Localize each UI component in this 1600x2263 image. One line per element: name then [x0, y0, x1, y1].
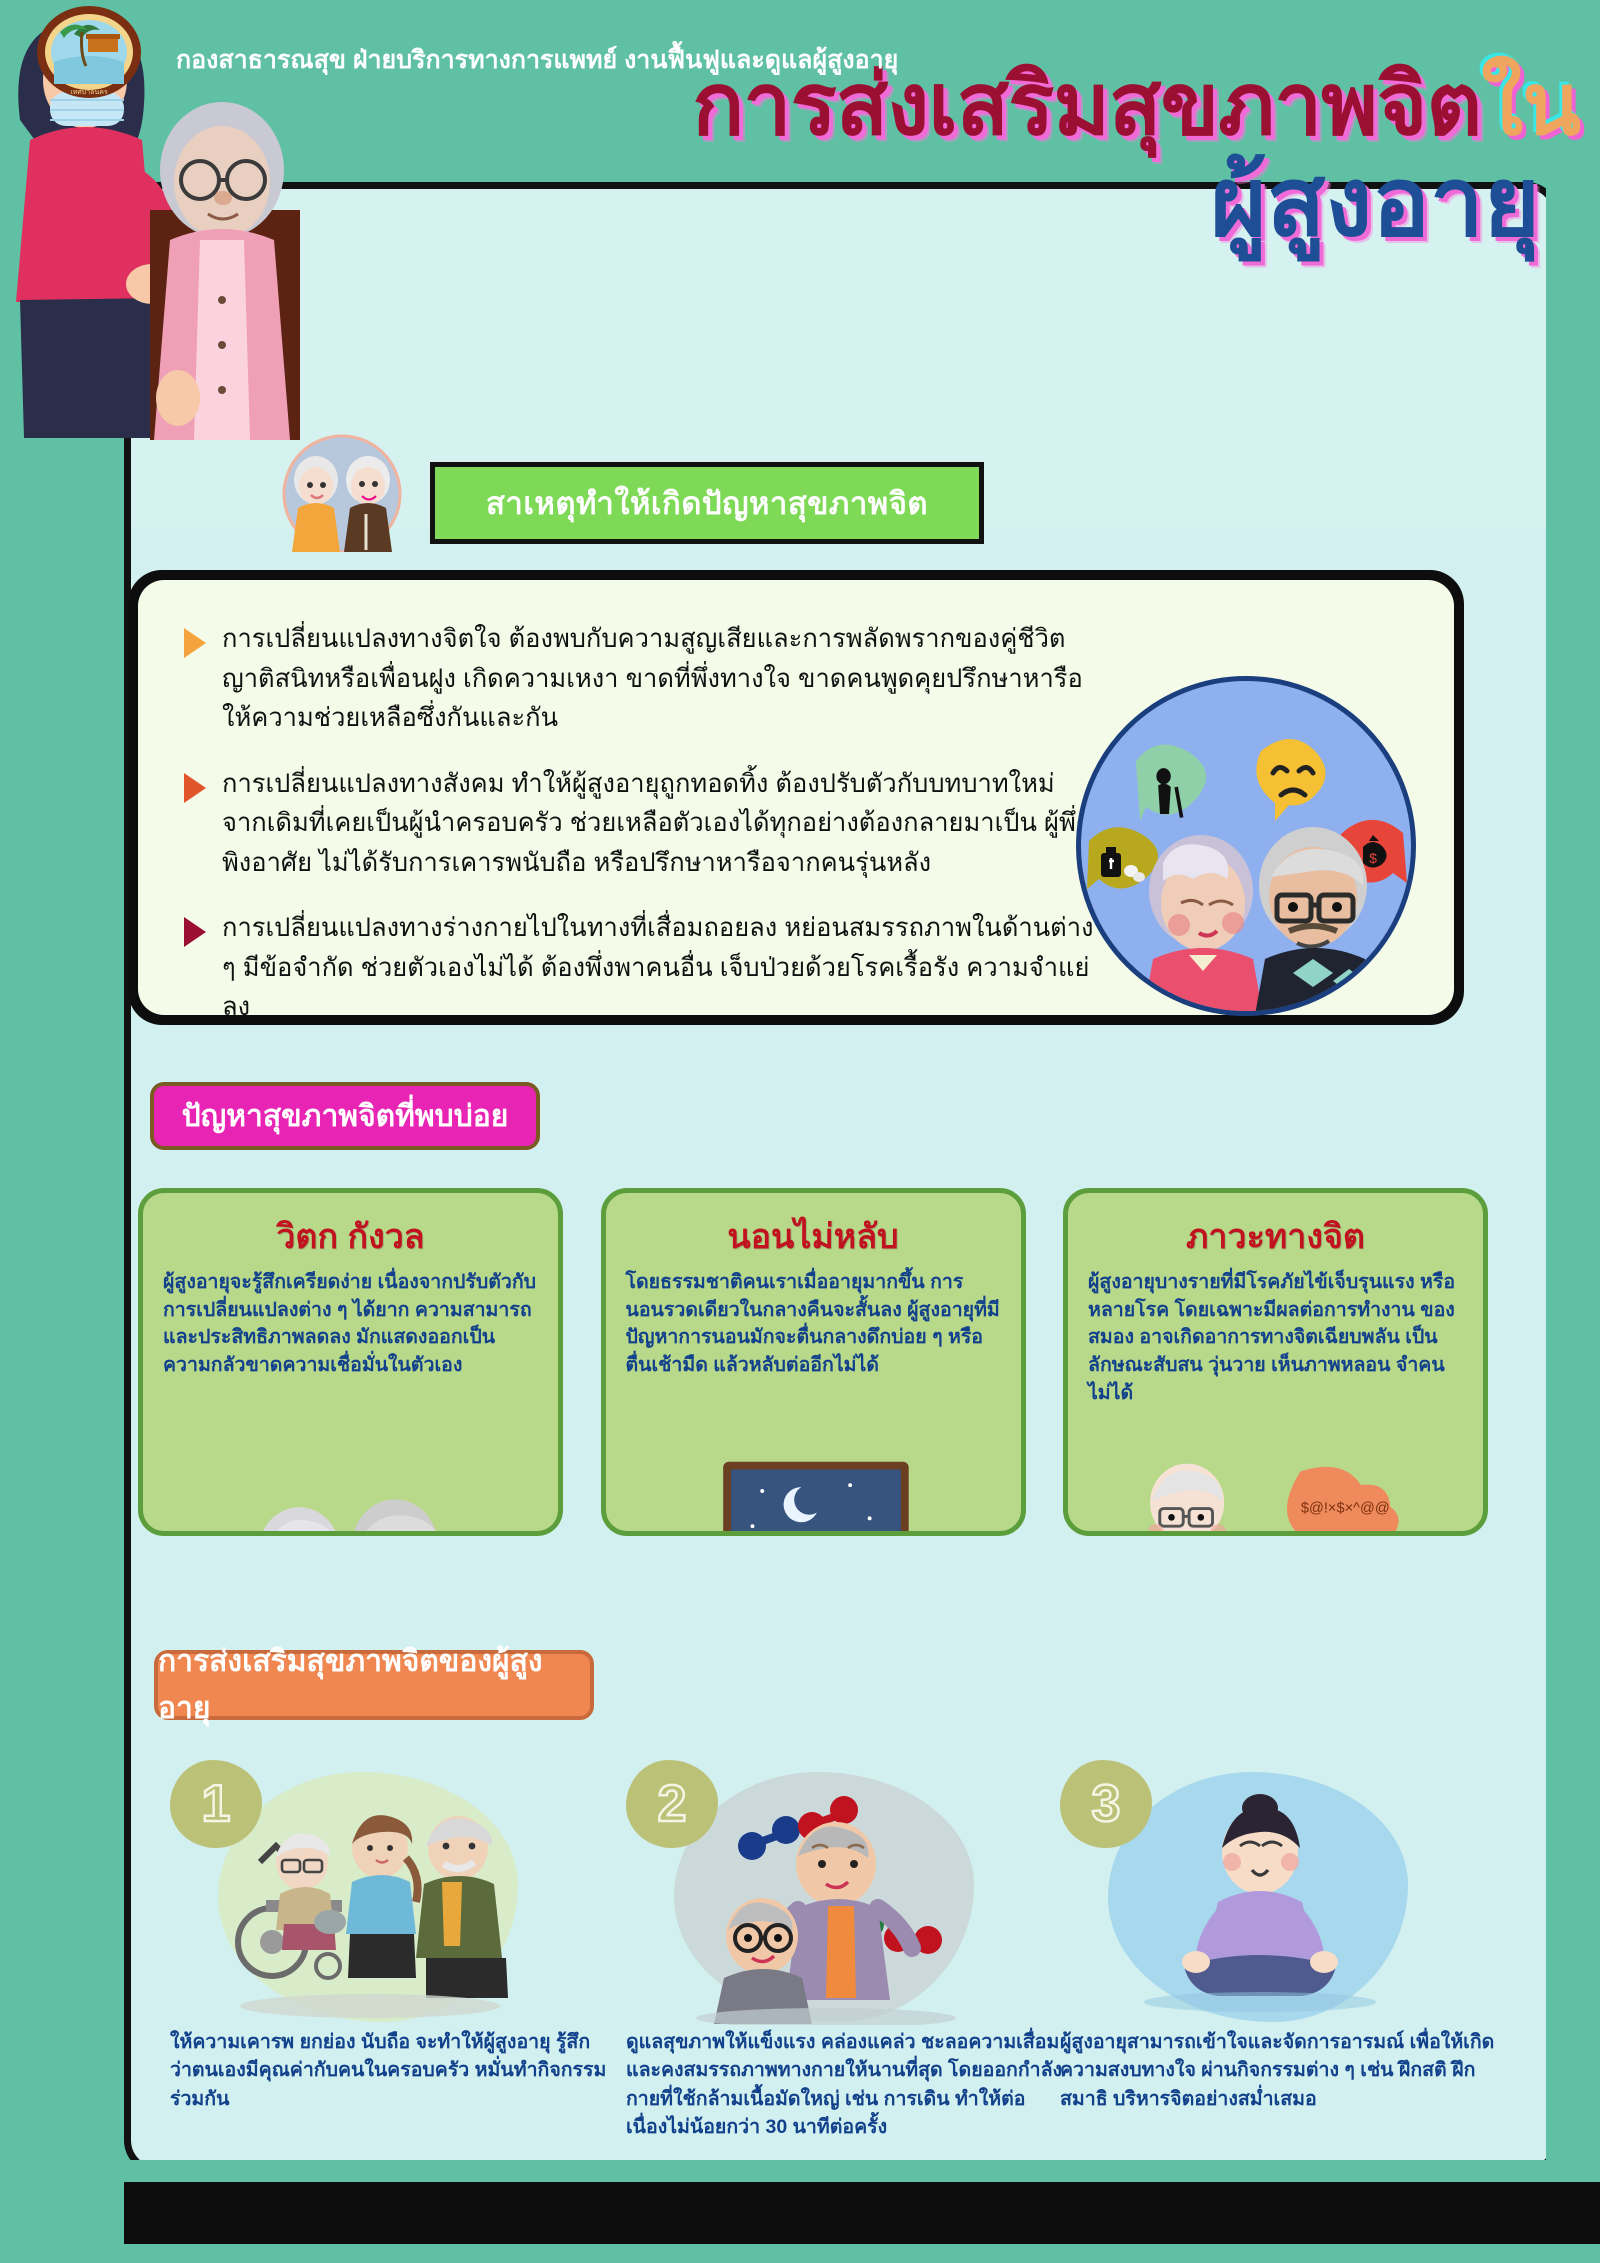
- causes-box: การเปลี่ยนแปลงทางจิตใจ ต้องพบกับความสูญเ…: [128, 570, 1464, 1025]
- promotion-steps-row: 1 ให้ความเคารพ ยกย่อง นับถือ จะทำให้ผู้ส…: [130, 1760, 1500, 2150]
- card-body: ผู้สูงอายุบางรายที่มีโรคภัยไข้เจ็บรุนแรง…: [1088, 1269, 1463, 1407]
- step-number-badge: 3: [1060, 1760, 1152, 1848]
- problem-cards-row: วิตก กังวล ผู้สูงอายุจะรู้สึกเครียดง่าย …: [138, 1188, 1488, 1558]
- footer-bar: [124, 2182, 1600, 2244]
- worried-couple-illustration: [143, 1481, 558, 1536]
- step-text: ผู้สูงอายุสามารถเข้าใจและจัดการอารมณ์ เพ…: [1060, 2028, 1500, 2113]
- problem-card-insomnia: นอนไม่หลับ โดยธรรมชาติคนเราเมื่ออายุมากข…: [601, 1188, 1026, 1536]
- card-title: ภาวะทางจิต: [1088, 1209, 1463, 1263]
- causes-banner: สาเหตุทำให้เกิดปัญหาสุขภาพจิต: [430, 462, 984, 544]
- elderly-exercising-with-dumbbells-illustration: [666, 1790, 986, 2025]
- card-body: ผู้สูงอายุจะรู้สึกเครียดง่าย เนื่องจากปร…: [163, 1269, 538, 1380]
- svg-text:$@!×$×^@@: $@!×$×^@@: [1301, 1500, 1390, 1516]
- worried-elderly-couple-illustration: $: [1076, 676, 1416, 1016]
- title-line-2: ผู้สูงอายุ: [280, 154, 1580, 252]
- problems-badge-label: ปัญหาสุขภาพจิตที่พบบ่อย: [182, 1093, 509, 1140]
- step-number: 3: [1092, 1774, 1121, 1834]
- footer: [0, 2160, 1600, 2263]
- card-title: นอนไม่หลับ: [626, 1209, 1001, 1263]
- triangle-bullet-icon: [184, 628, 206, 658]
- step-number-badge: 2: [626, 1760, 718, 1848]
- card-title: วิตก กังวล: [163, 1209, 538, 1263]
- cause-text-3: การเปลี่ยนแปลงทางร่างกายไปในทางที่เสื่อม…: [222, 909, 1102, 1028]
- problems-badge: ปัญหาสุขภาพจิตที่พบบ่อย: [150, 1082, 540, 1150]
- footer-text: กองสาธารณสุข ฝ่ายบริการทางการแพทย์ งานฟื…: [176, 40, 898, 80]
- card-body: โดยธรรมชาติคนเราเมื่ออายุมากขึ้น การนอนร…: [626, 1269, 1001, 1380]
- promotion-badge: การส่งเสริมสุขภาพจิตของผู้สูงอายุ: [154, 1650, 594, 1720]
- svg-text:เทศบาลนคร: เทศบาลนคร: [70, 89, 108, 96]
- organization-logo: เทศบาลนคร: [30, 4, 148, 100]
- woman-meditating-illustration: [1100, 1790, 1420, 2025]
- triangle-bullet-icon: [184, 773, 206, 803]
- step-number: 2: [658, 1774, 687, 1834]
- infographic-page: การส่งเสริมสุขภาพจิตใน ผู้สูงอายุ สาเหตุ…: [0, 0, 1600, 2263]
- title-accent-text: ใน: [1481, 57, 1580, 153]
- step-number: 1: [202, 1774, 231, 1834]
- step-number-badge: 1: [170, 1760, 262, 1848]
- page-title: การส่งเสริมสุขภาพจิตใน ผู้สูงอายุ: [280, 60, 1580, 252]
- cause-text-2: การเปลี่ยนแปลงทางสังคม ทำให้ผู้สูงอายุถู…: [222, 765, 1102, 884]
- problem-card-psychosis: ภาวะทางจิต ผู้สูงอายุบางรายที่มีโรคภัยไข…: [1063, 1188, 1488, 1536]
- elderly-couple-circle-illustration: [258, 432, 426, 552]
- step-text: ดูแลสุขภาพให้แข็งแรง คล่องแคล่ว ชะลอความ…: [626, 2028, 1066, 2141]
- step-text: ให้ความเคารพ ยกย่อง นับถือ จะทำให้ผู้สูง…: [170, 2028, 610, 2113]
- svg-text:$: $: [1369, 850, 1377, 866]
- family-with-wheelchair-illustration: [210, 1790, 530, 2025]
- right-margin-band: [1546, 0, 1600, 2263]
- cause-text-1: การเปลี่ยนแปลงทางจิตใจ ต้องพบกับความสูญเ…: [222, 620, 1102, 739]
- triangle-bullet-icon: [184, 917, 206, 947]
- confused-man-on-bench-illustration: $@!×$×^@@: [1068, 1459, 1483, 1536]
- sleeping-person-in-bed-illustration: [606, 1459, 1021, 1536]
- causes-banner-label: สาเหตุทำให้เกิดปัญหาสุขภาพจิต: [486, 478, 928, 528]
- causes-inner: การเปลี่ยนแปลงทางจิตใจ ต้องพบกับความสูญเ…: [138, 580, 1454, 1015]
- promotion-badge-label: การส่งเสริมสุขภาพจิตของผู้สูงอายุ: [158, 1638, 590, 1732]
- problem-card-anxiety: วิตก กังวล ผู้สูงอายุจะรู้สึกเครียดง่าย …: [138, 1188, 563, 1536]
